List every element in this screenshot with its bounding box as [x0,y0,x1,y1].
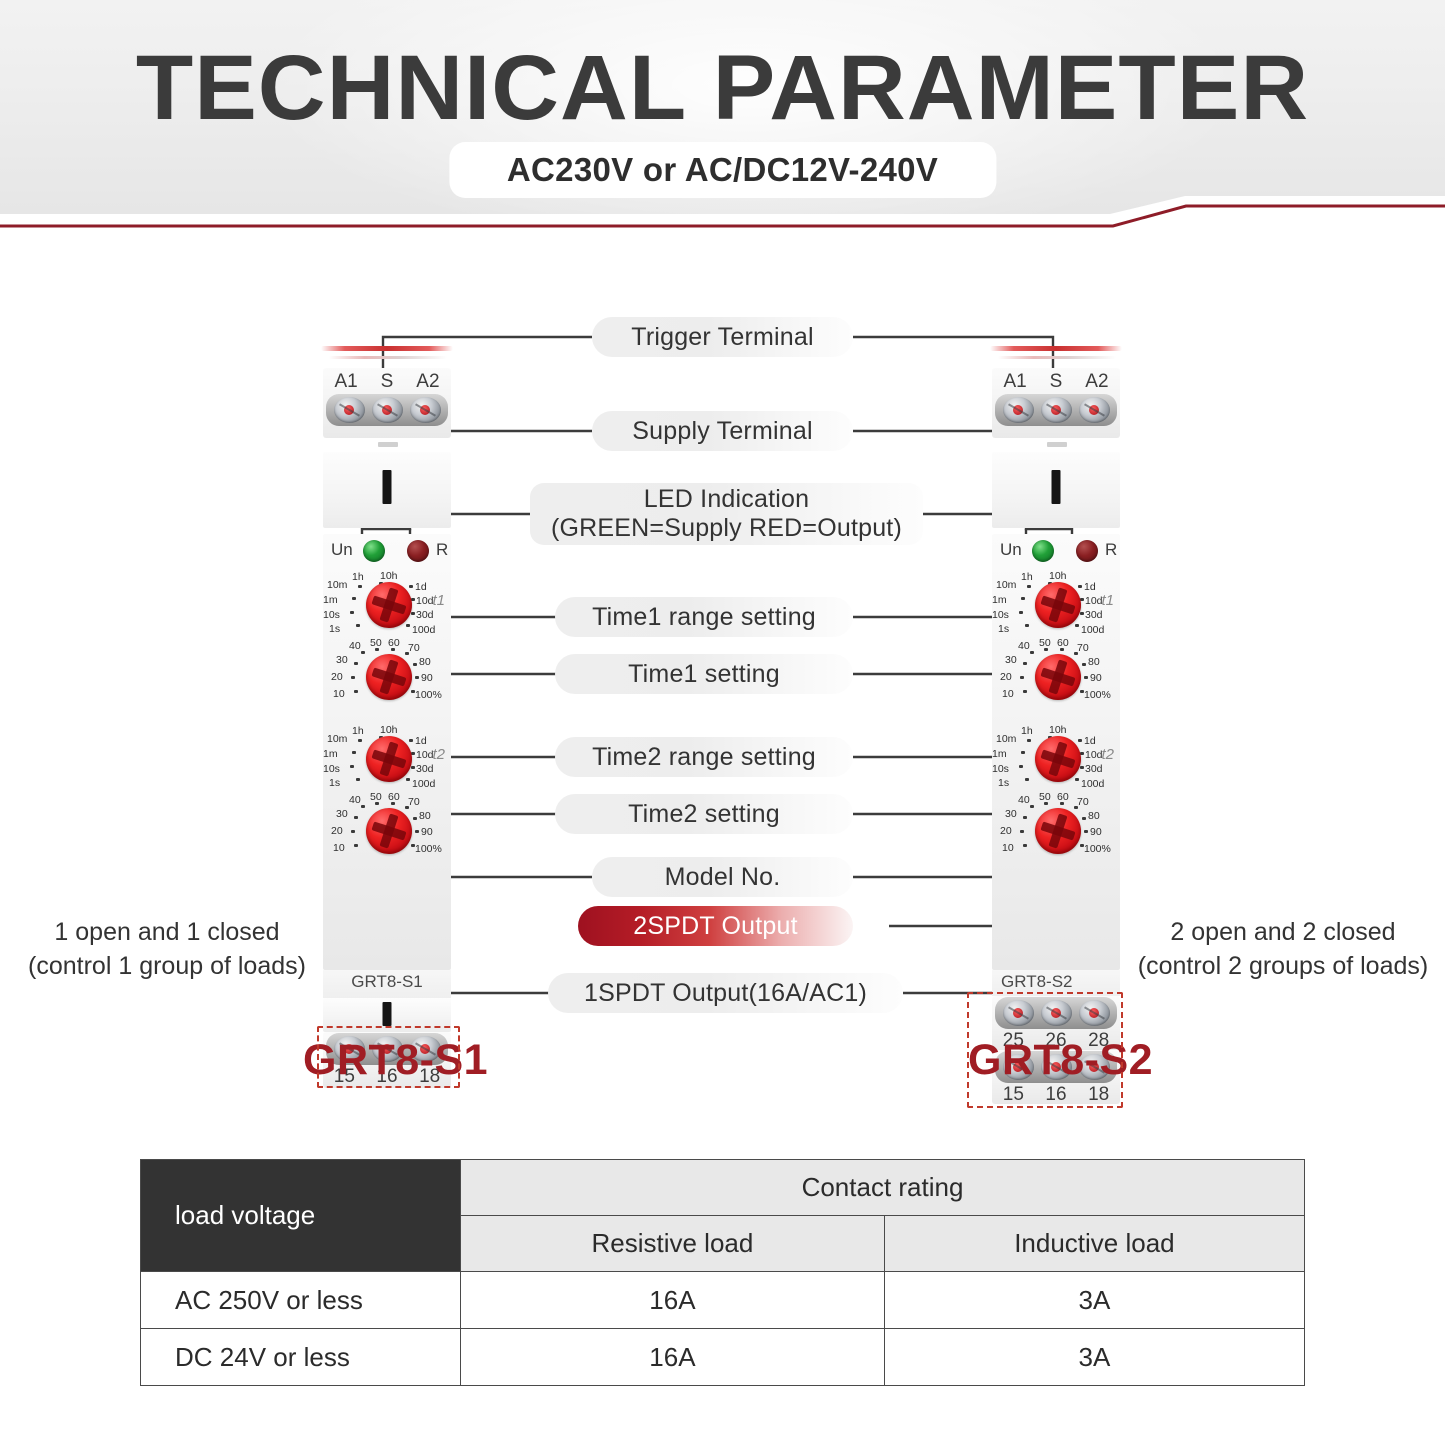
dial-time2-range[interactable]: 1h 10h 10m 1m 10s 1s 1d 10d 30d 100d [992,720,1120,798]
scale-1d: 1d [415,581,427,593]
led-label-un: Un [331,540,353,560]
callout-time1-setting: Time1 setting [555,654,853,694]
scale-20: 20 [331,825,343,837]
callout-led-indication: LED Indication (GREEN=Supply RED=Output) [530,483,923,545]
page-header: TECHNICAL PARAMETER AC230V or AC/DC12V-2… [0,0,1445,215]
note-left-line2: (control 1 group of loads) [22,950,312,984]
screw-terminal [334,397,365,423]
scale-10m: 10m [996,733,1016,745]
table-header-load-voltage: load voltage [141,1160,461,1272]
scale-30d: 30d [1085,609,1103,621]
scale-80: 80 [419,656,431,668]
note-right-line1: 2 open and 2 closed [1128,916,1438,950]
terminal-label-16: 16 [1045,1084,1066,1106]
supply-terminal-block: A1 S A2 [992,368,1120,438]
screw-terminal [1003,1000,1034,1026]
scale-10h: 10h [380,724,398,736]
table-header-row-1: load voltage Contact rating [141,1160,1305,1216]
device-face-panel: Un R 1h 10h 10m 1m 10s 1s 1d 10d 30d 100… [323,534,451,970]
din-tab-top [1047,442,1067,447]
scale-70: 70 [408,796,420,808]
scale-1h: 1h [352,725,364,737]
note-left-device: 1 open and 1 closed (control 1 group of … [22,916,312,984]
din-tab-top [378,442,398,447]
scale-10h: 10h [380,570,398,582]
led-green-supply [1032,540,1054,562]
scale-100d: 100d [1081,778,1104,790]
din-slot-top [383,470,392,504]
led-label-r: R [1105,540,1117,560]
scale-1m: 1m [992,594,1007,606]
callout-time2-range: Time2 range setting [555,737,853,777]
scale-10s: 10s [323,609,340,621]
note-left-line1: 1 open and 1 closed [22,916,312,950]
scale-1d: 1d [1084,581,1096,593]
knob-time1-setting[interactable] [366,654,412,700]
table-cell-inductive: 3A [884,1272,1304,1329]
scale-80: 80 [1088,810,1100,822]
model-name-right: GRT8-S2 [968,1036,1148,1085]
scale-1h: 1h [1021,725,1033,737]
scale-20: 20 [1000,825,1012,837]
scale-70: 70 [1077,796,1089,808]
scale-30: 30 [336,654,348,666]
callout-supply-terminal: Supply Terminal [592,411,853,451]
terminal-label-a2: A2 [416,371,439,393]
knob-time2-setting[interactable] [366,808,412,854]
scale-100: 100% [415,843,442,855]
scale-100: 100% [1084,843,1111,855]
screw-terminal [1079,397,1110,423]
supply-screw-row [326,394,448,426]
table-row: DC 24V or less 16A 3A [141,1329,1305,1386]
callout-2spdt-output: 2SPDT Output [578,906,853,946]
model-strip: GRT8-S1 [323,970,451,998]
diagram-stage: A1 S A2 Un R 1h [0,236,1445,1136]
table-row: AC 250V or less 16A 3A [141,1272,1305,1329]
device-red-stripe [321,346,453,351]
scale-20: 20 [1000,671,1012,683]
scale-1s: 1s [998,777,1009,789]
scale-1d: 1d [415,735,427,747]
terminal-label-a1: A1 [334,371,357,393]
terminal-label-a1: A1 [1003,371,1026,393]
dial-time1-range[interactable]: 1h 10h 10m 1m 10s 1s 1d 10d 30d 100d [323,566,451,644]
scale-100d: 100d [412,624,435,636]
scale-1m: 1m [323,748,338,760]
scale-10h: 10h [1049,570,1067,582]
contact-rating-table: load voltage Contact rating Resistive lo… [140,1159,1305,1386]
dial-time1-range[interactable]: 1h 10h 10m 1m 10s 1s 1d 10d 30d 100d [992,566,1120,644]
header-subtitle-pill: AC230V or AC/DC12V-240V [449,142,996,198]
scale-10d: 10d [416,749,434,761]
scale-1s: 1s [329,777,340,789]
terminal-label-s: S [1050,371,1063,393]
scale-10m: 10m [327,733,347,745]
scale-30: 30 [336,808,348,820]
led-red-output [1076,540,1098,562]
led-label-un: Un [1000,540,1022,560]
screw-terminal [1079,1000,1110,1026]
screw-terminal [1003,397,1034,423]
scale-30: 30 [1005,808,1017,820]
dial-marker-t1: t1 [1101,592,1114,609]
knob-time1-setting[interactable] [1035,654,1081,700]
scale-100d: 100d [1081,624,1104,636]
knob-time2-range[interactable] [366,736,412,782]
output-mid-panel [323,998,451,1032]
scale-30: 30 [1005,654,1017,666]
table-cell-voltage: AC 250V or less [141,1272,461,1329]
scale-1h: 1h [1021,571,1033,583]
device-face-panel: Un R 1h 10h 10m 1m 10s 1s 1d 10d 30d 100… [992,534,1120,970]
knob-time1-range[interactable] [366,582,412,628]
dial-time1-setting[interactable]: 40 50 60 70 30 20 10 80 90 100% [992,638,1120,716]
scale-1m: 1m [323,594,338,606]
device-red-stripe [990,346,1122,351]
scale-10m: 10m [327,579,347,591]
scale-10s: 10s [992,763,1009,775]
scale-40: 40 [349,794,361,806]
led-label-r: R [436,540,448,560]
screw-terminal [372,397,403,423]
page-title: TECHNICAL PARAMETER [0,36,1445,141]
table-header-inductive-load: Inductive load [884,1216,1304,1272]
scale-40: 40 [349,640,361,652]
terminal-label-s: S [381,371,394,393]
din-slot-top [1052,470,1061,504]
callout-1spdt-output: 1SPDT Output(16A/AC1) [548,973,903,1013]
scale-10h: 10h [1049,724,1067,736]
scale-100: 100% [415,689,442,701]
scale-10m: 10m [996,579,1016,591]
scale-1m: 1m [992,748,1007,760]
knob-time2-range[interactable] [1035,736,1081,782]
table-header-resistive-load: Resistive load [461,1216,885,1272]
scale-10: 10 [1002,688,1014,700]
scale-30d: 30d [1085,763,1103,775]
knob-time1-range[interactable] [1035,582,1081,628]
callout-time1-range: Time1 range setting [555,597,853,637]
dial-time1-setting[interactable]: 40 50 60 70 30 20 10 80 90 100% [323,638,451,716]
callout-led-line1: LED Indication [644,485,809,515]
scale-30d: 30d [416,763,434,775]
scale-10: 10 [333,842,345,854]
scale-10d: 10d [1085,749,1103,761]
scale-70: 70 [1077,642,1089,654]
scale-100d: 100d [412,778,435,790]
device-mid-panel [323,452,451,528]
output-terminal-labels: 15 16 18 [992,1084,1120,1108]
screw-terminal [1041,397,1072,423]
callout-trigger-terminal: Trigger Terminal [592,317,853,357]
scale-20: 20 [331,671,343,683]
scale-1d: 1d [1084,735,1096,747]
dial-marker-t1: t1 [432,592,445,609]
dial-time2-setting[interactable]: 40 50 60 70 30 20 10 80 90 100% [323,792,451,870]
model-strip: GRT8-S2 [992,970,1120,996]
device-red-stripe-secondary [329,356,447,359]
scale-90: 90 [1090,826,1102,838]
scale-80: 80 [1088,656,1100,668]
device-red-stripe-secondary [998,356,1116,359]
din-slot-bottom [383,1002,392,1026]
table-cell-resistive: 16A [461,1272,885,1329]
scale-40: 40 [1018,794,1030,806]
dial-time2-setting[interactable]: 40 50 60 70 30 20 10 80 90 100% [992,792,1120,870]
scale-1s: 1s [329,623,340,635]
note-right-line2: (control 2 groups of loads) [1128,950,1438,984]
led-red-output [407,540,429,562]
led-green-supply [363,540,385,562]
led-indicator-row: Un R [323,534,451,568]
scale-10d: 10d [416,595,434,607]
output-screw-row [995,997,1117,1029]
dial-time2-range[interactable]: 1h 10h 10m 1m 10s 1s 1d 10d 30d 100d [323,720,451,798]
terminal-label-a2: A2 [1085,371,1108,393]
scale-1h: 1h [352,571,364,583]
note-right-device: 2 open and 2 closed (control 2 groups of… [1128,916,1438,984]
supply-terminal-labels: A1 S A2 [323,368,451,393]
scale-10d: 10d [1085,595,1103,607]
led-indicator-row: Un R [992,534,1120,568]
supply-terminal-block: A1 S A2 [323,368,451,438]
scale-10s: 10s [992,609,1009,621]
scale-70: 70 [408,642,420,654]
knob-time2-setting[interactable] [1035,808,1081,854]
scale-90: 90 [1090,672,1102,684]
callout-model-no: Model No. [592,857,853,897]
screw-terminal [410,397,441,423]
device-mid-panel [992,452,1120,528]
table-header-contact-rating: Contact rating [461,1160,1305,1216]
supply-terminal-labels: A1 S A2 [992,368,1120,393]
scale-40: 40 [1018,640,1030,652]
scale-10: 10 [333,688,345,700]
callout-time2-setting: Time2 setting [555,794,853,834]
terminal-label-15: 15 [1003,1084,1024,1106]
scale-30d: 30d [416,609,434,621]
scale-10s: 10s [323,763,340,775]
scale-90: 90 [421,826,433,838]
callout-led-line2: (GREEN=Supply RED=Output) [551,514,902,544]
dial-marker-t2: t2 [432,746,445,763]
model-name-left: GRT8-S1 [303,1036,483,1085]
scale-10: 10 [1002,842,1014,854]
scale-90: 90 [421,672,433,684]
scale-80: 80 [419,810,431,822]
scale-1s: 1s [998,623,1009,635]
dial-marker-t2: t2 [1101,746,1114,763]
table-cell-inductive: 3A [884,1329,1304,1386]
table-cell-voltage: DC 24V or less [141,1329,461,1386]
terminal-label-18: 18 [1088,1084,1109,1106]
table-cell-resistive: 16A [461,1329,885,1386]
screw-terminal [1041,1000,1072,1026]
supply-screw-row [995,394,1117,426]
scale-100: 100% [1084,689,1111,701]
